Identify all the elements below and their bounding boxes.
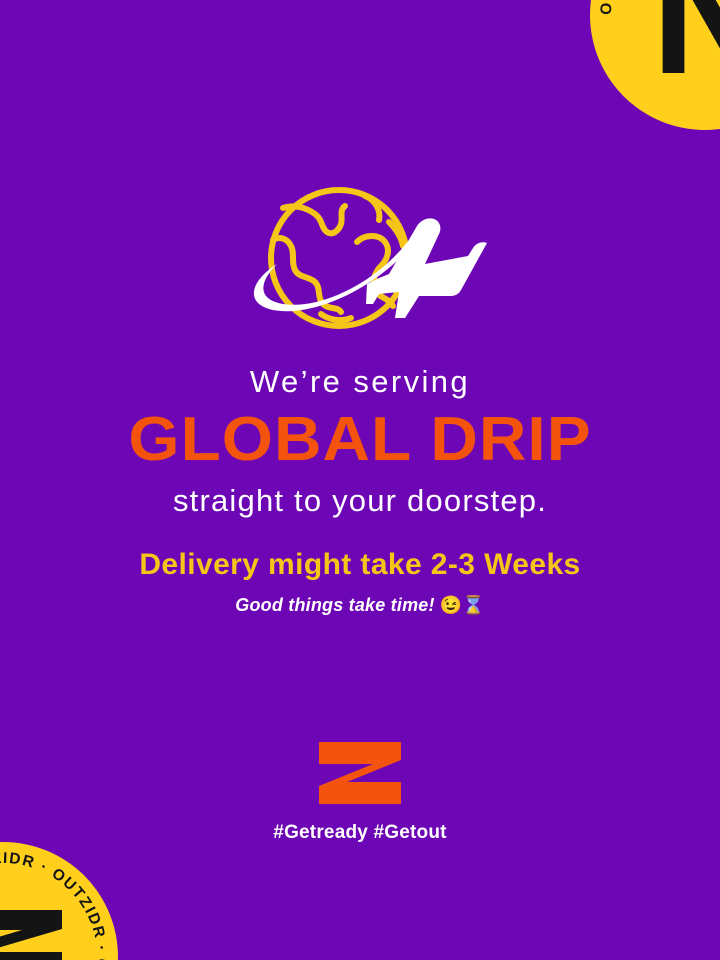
delivery-notice-block: Delivery might take 2-3 Weeks Good thing… [0,548,720,616]
hashtag-text: #Getready #Getout [273,822,446,844]
brand-badge-bottom-left: OUTZIDR · OUTZIDR · OUTZIDR · OUTZIDR · … [0,842,118,960]
delivery-eta-text: Delivery might take 2-3 Weeks [0,548,720,583]
wink-hourglass-emoji: 😉⌛ [440,595,485,615]
delivery-reassurance-row: Good things take time! 😉⌛ [0,595,720,617]
page-title: GLOBAL DRIP [0,407,720,472]
badge-letter-top-right: N [651,0,720,83]
badge-core-bottom-left: OUTZIDR [0,882,78,960]
footer-brand-block: #Getready #Getout [0,742,720,844]
subline-text: straight to your doorstep. [0,484,720,518]
hero-copy-block: We’re serving GLOBAL DRIP straight to yo… [0,365,720,518]
delivery-reassurance-text: Good things take time! [235,595,434,615]
globe-airplane-icon [229,178,491,344]
eyebrow-text: We’re serving [0,365,720,399]
brand-badge-top-right: OUTZIDR · OUTZIDR · OUTZIDR · OUTZIDR · … [590,0,720,130]
z-monogram-icon [0,908,66,960]
z-brand-logo-icon [319,742,401,804]
